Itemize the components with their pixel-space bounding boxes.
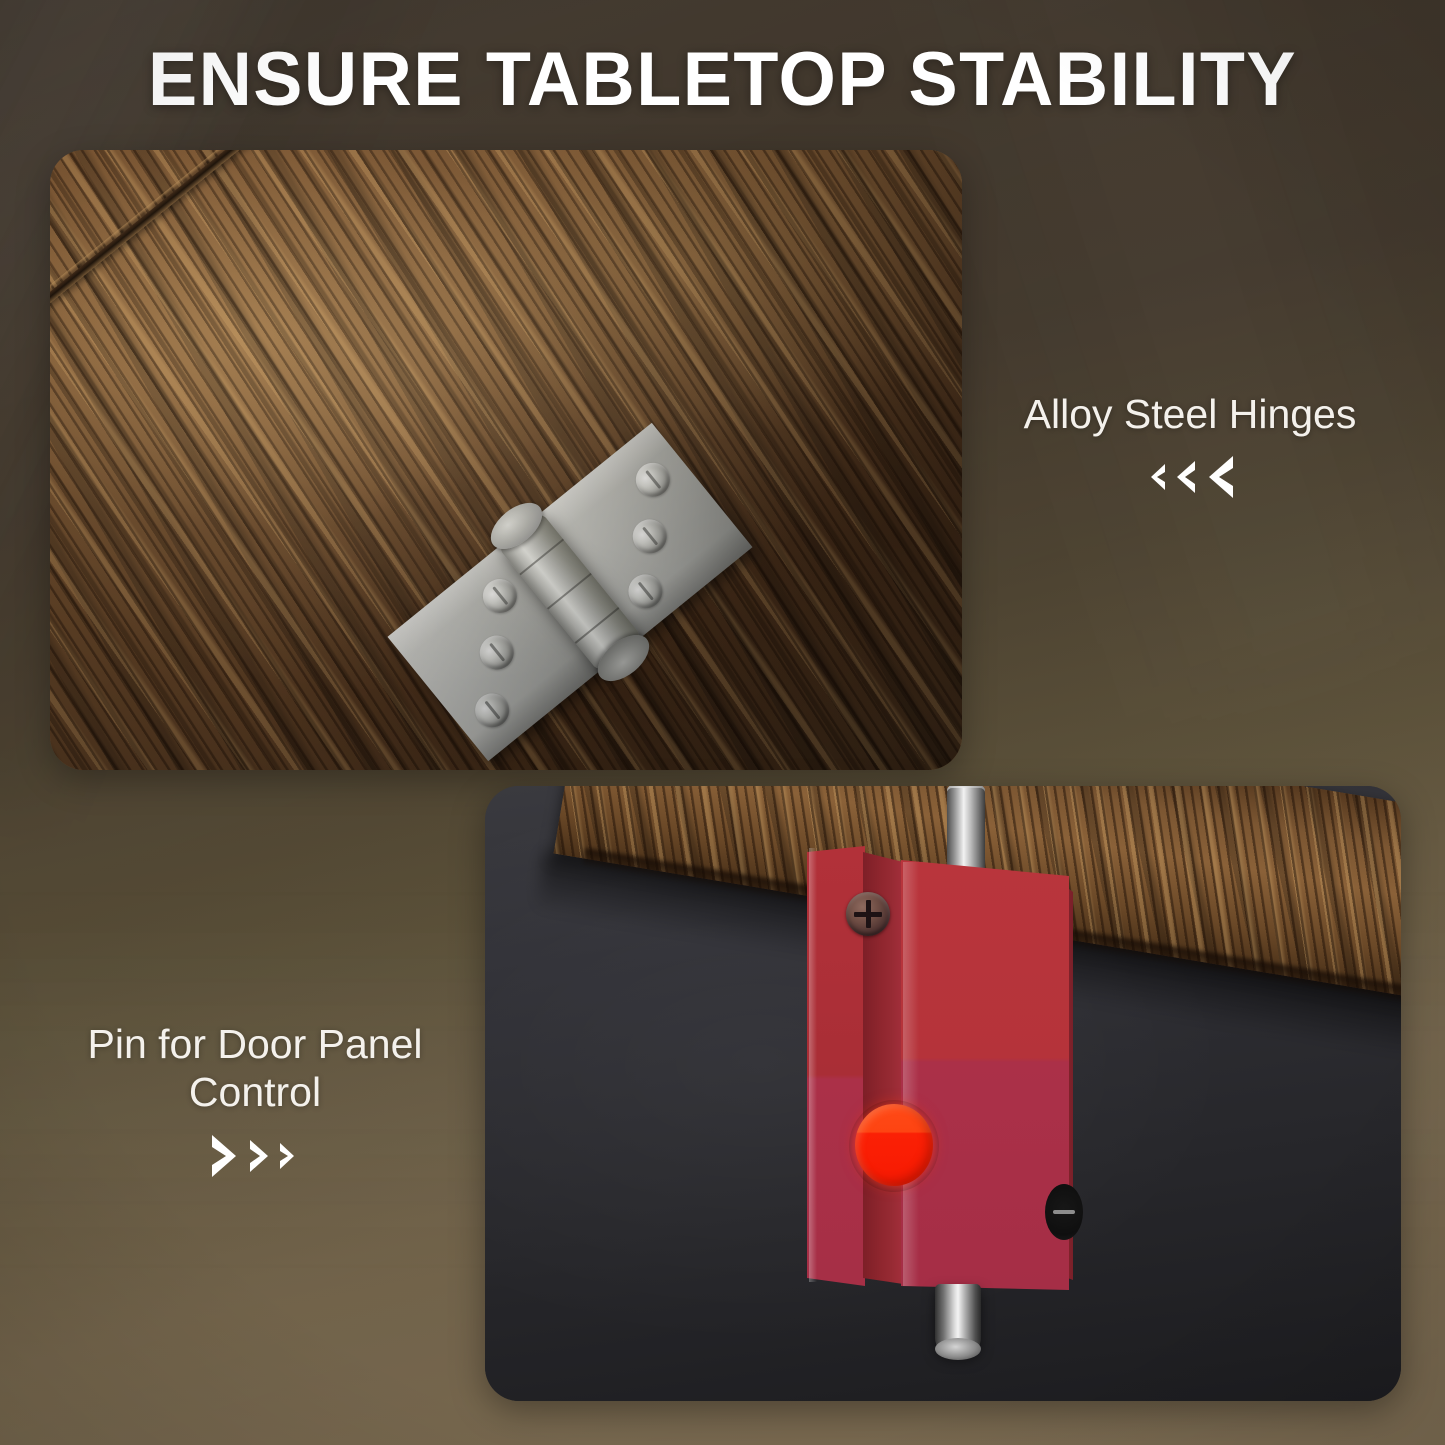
metal-pin-upper <box>947 788 985 874</box>
chevron-left-icon <box>1145 462 1167 492</box>
bracket-edge-highlight <box>809 848 817 1282</box>
screw-slot-vertical <box>866 900 871 928</box>
chevron-right-icon <box>248 1138 274 1174</box>
hinge-photo-card <box>50 150 962 770</box>
chevron-left-icon <box>1171 459 1197 495</box>
callout-alloy-steel-hinges: Alloy Steel Hinges <box>990 390 1390 500</box>
infographic-canvas: ENSURE TABLETOP STABILITY <box>0 0 1445 1445</box>
pin-bracket-photo-card <box>485 786 1401 1401</box>
callout-label: Alloy Steel Hinges <box>990 390 1390 438</box>
chevron-left-icon <box>1201 454 1235 500</box>
bracket-front-face <box>901 860 1069 1290</box>
metal-pin-cap <box>935 1338 981 1360</box>
photo-lighting-overlay <box>50 150 962 770</box>
callout-pin-for-door-panel-control: Pin for Door Panel Control <box>55 1020 455 1179</box>
bracket-face-highlight <box>903 862 919 1286</box>
chevron-left-icon-group <box>990 454 1390 500</box>
callout-label: Pin for Door Panel Control <box>55 1020 455 1117</box>
chevron-right-icon <box>210 1133 244 1179</box>
phillips-screw-icon <box>846 892 890 936</box>
bracket-icon <box>807 836 1069 1306</box>
chevron-right-icon <box>278 1141 300 1171</box>
red-knob-icon <box>855 1104 933 1186</box>
chevron-right-icon-group <box>55 1133 455 1179</box>
secondary-screw-icon <box>1045 1184 1083 1240</box>
page-title: ENSURE TABLETOP STABILITY <box>22 36 1424 123</box>
